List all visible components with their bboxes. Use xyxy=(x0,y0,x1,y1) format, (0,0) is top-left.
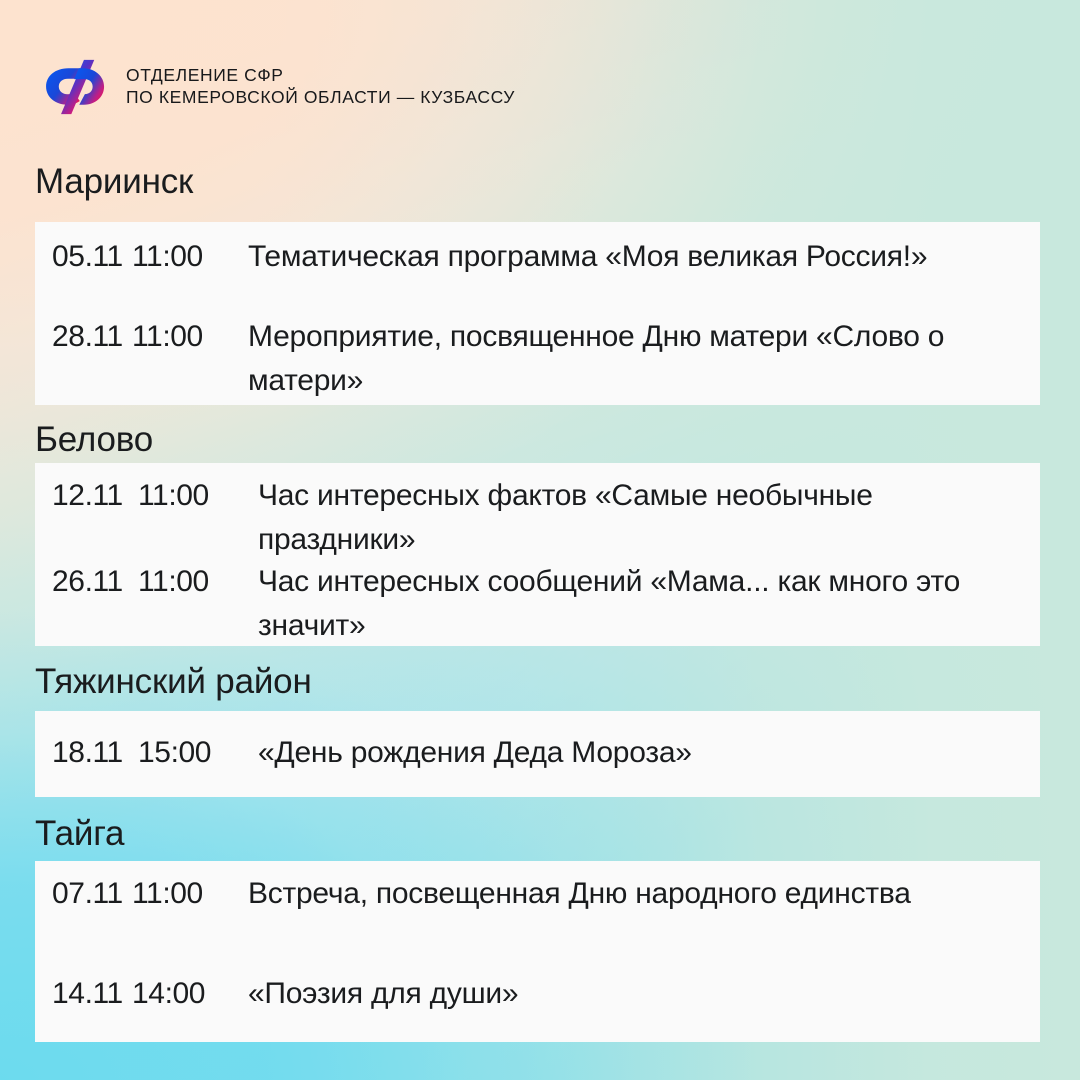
event-time: 11:00 xyxy=(132,315,248,359)
event-date: 18.11 xyxy=(52,731,138,775)
event-time: 15:00 xyxy=(138,731,258,775)
event-title: Мероприятие, посвященное Дню матери «Сло… xyxy=(248,315,1040,403)
event-row[interactable]: 26.11 11:00 Час интересных сообщений «Ма… xyxy=(35,560,1040,648)
events-card-mariinsk: 05.11 11:00 Тематическая программа «Моя … xyxy=(35,222,1040,405)
event-title: Час интересных фактов «Самые необычные п… xyxy=(258,474,1040,562)
event-title: «Поэзия для души» xyxy=(248,972,1040,1016)
event-date: 07.11 xyxy=(52,872,132,916)
event-date: 14.11 xyxy=(52,972,132,1016)
poster-page: ОТДЕЛЕНИЕ СФР ПО КЕМЕРОВСКОЙ ОБЛАСТИ — К… xyxy=(0,0,1080,1080)
city-heading-mariinsk: Мариинск xyxy=(35,164,193,199)
event-time: 11:00 xyxy=(138,474,258,518)
event-time: 14:00 xyxy=(132,972,248,1016)
brand-line-1: ОТДЕЛЕНИЕ СФР xyxy=(126,65,515,87)
city-heading-tyazhinsky: Тяжинский район xyxy=(35,664,312,699)
event-row[interactable]: 07.11 11:00 Встреча, посвещенная Дню нар… xyxy=(35,872,1040,916)
events-card-belovo: 12.11 11:00 Час интересных фактов «Самые… xyxy=(35,463,1040,646)
events-card-tayga: 07.11 11:00 Встреча, посвещенная Дню нар… xyxy=(35,861,1040,1042)
event-title: Тематическая программа «Моя великая Росс… xyxy=(248,235,1040,279)
event-row[interactable]: 28.11 11:00 Мероприятие, посвященное Дню… xyxy=(35,315,1040,403)
event-title: Час интересных сообщений «Мама... как мн… xyxy=(258,560,1040,648)
brand-header: ОТДЕЛЕНИЕ СФР ПО КЕМЕРОВСКОЙ ОБЛАСТИ — К… xyxy=(40,58,515,116)
city-heading-belovo: Белово xyxy=(35,422,153,457)
event-row[interactable]: 14.11 14:00 «Поэзия для души» xyxy=(35,972,1040,1016)
event-row[interactable]: 12.11 11:00 Час интересных фактов «Самые… xyxy=(35,474,1040,562)
event-date: 05.11 xyxy=(52,235,132,279)
event-time: 11:00 xyxy=(138,560,258,604)
event-date: 28.11 xyxy=(52,315,132,359)
city-heading-tayga: Тайга xyxy=(35,816,124,851)
event-date: 26.11 xyxy=(52,560,138,604)
event-title: «День рождения Деда Мороза» xyxy=(258,731,1040,775)
event-time: 11:00 xyxy=(132,872,248,916)
event-time: 11:00 xyxy=(132,235,248,279)
events-card-tyazhinsky: 18.11 15:00 «День рождения Деда Мороза» xyxy=(35,711,1040,797)
event-title: Встреча, посвещенная Дню народного единс… xyxy=(248,872,1040,916)
sfr-logo-icon xyxy=(40,58,112,116)
brand-line-2: ПО КЕМЕРОВСКОЙ ОБЛАСТИ — КУЗБАССУ xyxy=(126,87,515,109)
brand-text-block: ОТДЕЛЕНИЕ СФР ПО КЕМЕРОВСКОЙ ОБЛАСТИ — К… xyxy=(126,65,515,108)
event-date: 12.11 xyxy=(52,474,138,518)
event-row[interactable]: 05.11 11:00 Тематическая программа «Моя … xyxy=(35,235,1040,279)
event-row[interactable]: 18.11 15:00 «День рождения Деда Мороза» xyxy=(35,731,1040,775)
